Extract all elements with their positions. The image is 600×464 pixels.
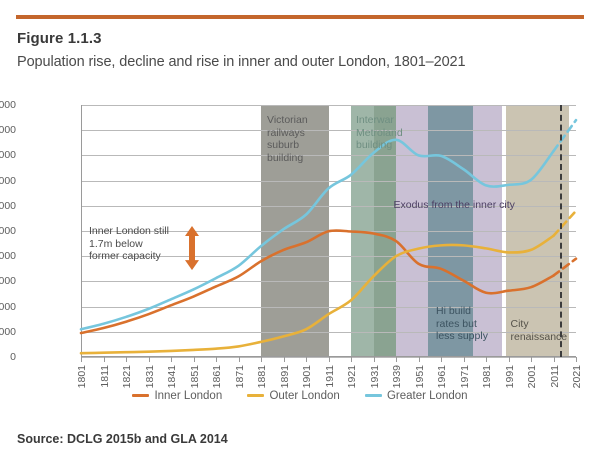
x-axis-tick-label: 2021 [571, 365, 583, 388]
x-axis-tick [554, 357, 555, 362]
x-axis-tick [216, 357, 217, 362]
capacity-gap-arrow-icon [184, 226, 200, 270]
source-note: Source: DCLG 2015b and GLA 2014 [17, 432, 228, 446]
legend-swatch-greater-london [365, 394, 382, 397]
x-axis-tick-label: 1881 [256, 365, 268, 388]
legend-item-greater-london[interactable]: Greater London [365, 390, 468, 402]
legend-label-outer-london: Outer London [269, 390, 339, 402]
x-axis-tick [396, 357, 397, 362]
x-axis-tick-label: 1891 [279, 365, 291, 388]
x-axis-tick-label: 1991 [504, 365, 516, 388]
x-axis-tick-label: 1931 [369, 365, 381, 388]
x-axis-tick [374, 357, 375, 362]
chart-legend: Inner London Outer London Greater London [0, 390, 600, 402]
x-axis-tick [329, 357, 330, 362]
x-axis-tick-label: 1961 [436, 365, 448, 388]
legend-item-outer-london[interactable]: Outer London [247, 390, 339, 402]
legend-label-inner-london: Inner London [154, 390, 222, 402]
annotation-hi-build-rates: Hi build rates but less supply [436, 305, 488, 343]
y-axis-tick-label: 1,000,000 [0, 326, 16, 338]
legend-swatch-outer-london [247, 394, 264, 397]
series-line-projection-inner-london [554, 259, 577, 276]
annotation-inner-london-capacity: Inner London still 1.7m below former cap… [89, 225, 169, 263]
x-axis-tick-label: 1861 [211, 365, 223, 388]
x-axis-tick-label: 1981 [481, 365, 493, 388]
annotation-city-renaissance: City renaissance [511, 318, 568, 343]
legend-swatch-inner-london [132, 394, 149, 397]
x-axis-tick [194, 357, 195, 362]
x-axis-tick [576, 357, 577, 362]
x-axis-tick-label: 1841 [166, 365, 178, 388]
x-axis-tick [149, 357, 150, 362]
x-axis-tick-label: 1821 [121, 365, 133, 388]
y-axis-tick-label: 5,000,000 [0, 225, 16, 237]
series-line-projection-outer-london [554, 211, 577, 236]
x-axis-tick [239, 357, 240, 362]
x-axis-tick [509, 357, 510, 362]
y-axis-tick-label: 10,000,000 [0, 99, 16, 111]
chart-container: Victorian railways suburb buildingInterw… [0, 90, 600, 390]
x-axis-tick-label: 2001 [526, 365, 538, 388]
figure-title: Population rise, decline and rise in inn… [17, 54, 465, 70]
x-axis-tick [351, 357, 352, 362]
annotation-exodus-inner-city: Exodus from the inner city [394, 199, 515, 212]
x-axis-tick-label: 2011 [549, 365, 561, 388]
x-axis-tick-label: 1871 [234, 365, 246, 388]
legend-label-greater-london: Greater London [387, 390, 468, 402]
x-axis-tick-label: 1901 [301, 365, 313, 388]
x-axis-tick-label: 1971 [459, 365, 471, 388]
y-axis-tick-label: 6,000,000 [0, 200, 16, 212]
y-axis-tick-label: 8,000,000 [0, 149, 16, 161]
x-axis-tick-label: 1801 [76, 365, 88, 388]
legend-item-inner-london[interactable]: Inner London [132, 390, 222, 402]
y-axis-tick-label: 9,000,000 [0, 124, 16, 136]
y-axis-tick-label: 2,000,000 [0, 301, 16, 313]
figure-number: Figure 1.1.3 [17, 30, 102, 47]
x-axis-tick [419, 357, 420, 362]
x-axis-tick [171, 357, 172, 362]
x-axis-tick-label: 1811 [99, 365, 111, 388]
plot-area: Victorian railways suburb buildingInterw… [81, 105, 576, 357]
x-axis-tick [306, 357, 307, 362]
x-axis-tick [126, 357, 127, 362]
annotation-interwar-metroland: Interwar Metroland building [356, 114, 403, 152]
x-axis-tick-label: 1921 [346, 365, 358, 388]
projection-divider-line [560, 105, 562, 357]
y-axis-tick-label: 3,000,000 [0, 275, 16, 287]
x-axis-tick [486, 357, 487, 362]
x-axis-tick [81, 357, 82, 362]
series-line-projection-greater-london [554, 120, 577, 151]
x-axis-tick-label: 1939 [391, 365, 403, 388]
x-axis-tick-label: 1951 [414, 365, 426, 388]
x-axis-tick-label: 1911 [324, 365, 336, 388]
x-axis-tick-label: 1851 [189, 365, 201, 388]
annotation-victorian-railways: Victorian railways suburb building [267, 114, 308, 164]
x-axis-tick [261, 357, 262, 362]
y-axis-tick-label: 7,000,000 [0, 175, 16, 187]
x-axis-tick [531, 357, 532, 362]
x-axis-tick [284, 357, 285, 362]
x-axis-tick [104, 357, 105, 362]
x-axis-tick [464, 357, 465, 362]
y-axis-tick-label: 4,000,000 [0, 250, 16, 262]
y-axis-tick-label: 0 [0, 351, 16, 363]
top-accent-rule [16, 15, 584, 19]
x-axis-tick [441, 357, 442, 362]
x-axis-tick-label: 1831 [144, 365, 156, 388]
